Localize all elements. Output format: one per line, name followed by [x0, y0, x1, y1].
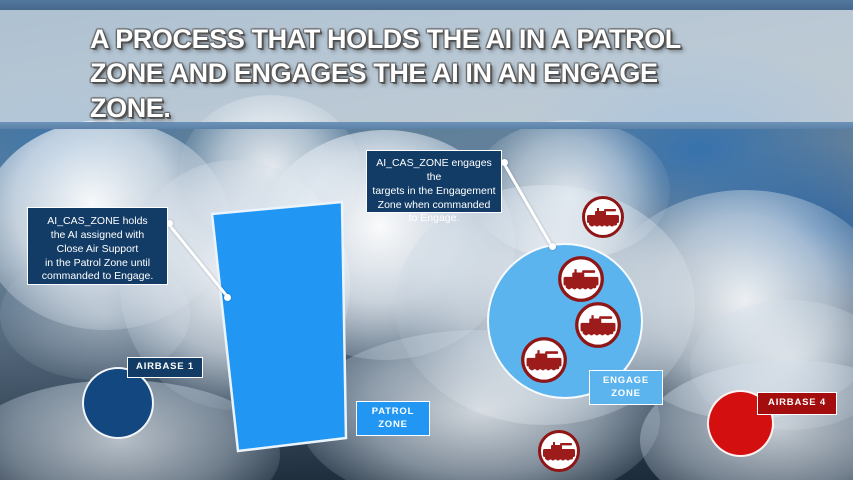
slide-canvas: A PROCESS THAT HOLDS THE AI IN A PATROL … [0, 0, 853, 480]
target-icon-5[interactable] [537, 429, 581, 473]
page-title: A PROCESS THAT HOLDS THE AI IN A PATROL … [90, 22, 770, 125]
patrol-callout-box[interactable]: AI_CAS_ZONE holds the AI assigned with C… [27, 207, 168, 285]
connector-dot-engage-end [549, 243, 556, 250]
connector-dot-engage-start [501, 159, 508, 166]
connector-line-engage [503, 163, 553, 247]
target-icon-4[interactable] [520, 336, 568, 384]
header-strip-top [0, 0, 853, 10]
patrol-zone-polygon [212, 202, 346, 451]
title-band: A PROCESS THAT HOLDS THE AI IN A PATROL … [0, 0, 853, 129]
label-engage-zone[interactable]: ENGAGE ZONE [589, 370, 663, 405]
engage-callout-box[interactable]: AI_CAS_ZONE engages the targets in the E… [366, 150, 502, 213]
label-airbase-4[interactable]: AIRBASE 4 [757, 392, 837, 415]
target-icon-1[interactable] [581, 195, 625, 239]
connector-dot-patrol-end [224, 294, 231, 301]
patrol-zone-shape[interactable] [205, 196, 353, 456]
label-patrol-zone[interactable]: PATROL ZONE [356, 401, 430, 436]
target-icon-3[interactable] [574, 301, 622, 349]
target-icon-2[interactable] [557, 255, 605, 303]
label-airbase-1[interactable]: AIRBASE 1 [127, 357, 203, 378]
